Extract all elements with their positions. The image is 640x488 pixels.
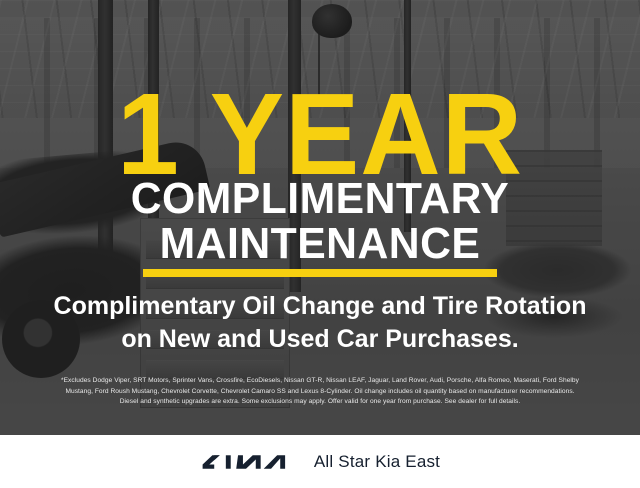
subheadline-line-1: Complimentary Oil Change and Tire Rotati… xyxy=(54,292,587,320)
headline-secondary-complimentary: COMPLIMENTARY xyxy=(10,176,631,222)
yellow-divider-bar xyxy=(143,269,497,277)
disclaimer-line-1: *Excludes Dodge Viper, SRT Motors, Sprin… xyxy=(14,376,626,387)
footer-bar: All Star Kia East xyxy=(0,435,640,488)
disclaimer-line-3: Diesel and synthetic upgrades are extra.… xyxy=(14,397,626,408)
headline-secondary-maintenance: MAINTENANCE xyxy=(10,221,631,267)
hero-section: 1 YEAR COMPLIMENTARY MAINTENANCE Complim… xyxy=(0,0,640,435)
disclaimer-text: *Excludes Dodge Viper, SRT Motors, Sprin… xyxy=(14,376,626,408)
subheadline-line-2: on New and Used Car Purchases. xyxy=(0,323,640,356)
promo-banner: 1 YEAR COMPLIMENTARY MAINTENANCE Complim… xyxy=(0,0,640,488)
subheadline: Complimentary Oil Change and Tire Rotati… xyxy=(0,290,640,356)
dealer-name: All Star Kia East xyxy=(314,452,440,472)
kia-logo xyxy=(200,451,292,473)
disclaimer-line-2: Mustang, Ford Roush Mustang, Chevrolet C… xyxy=(14,387,626,398)
